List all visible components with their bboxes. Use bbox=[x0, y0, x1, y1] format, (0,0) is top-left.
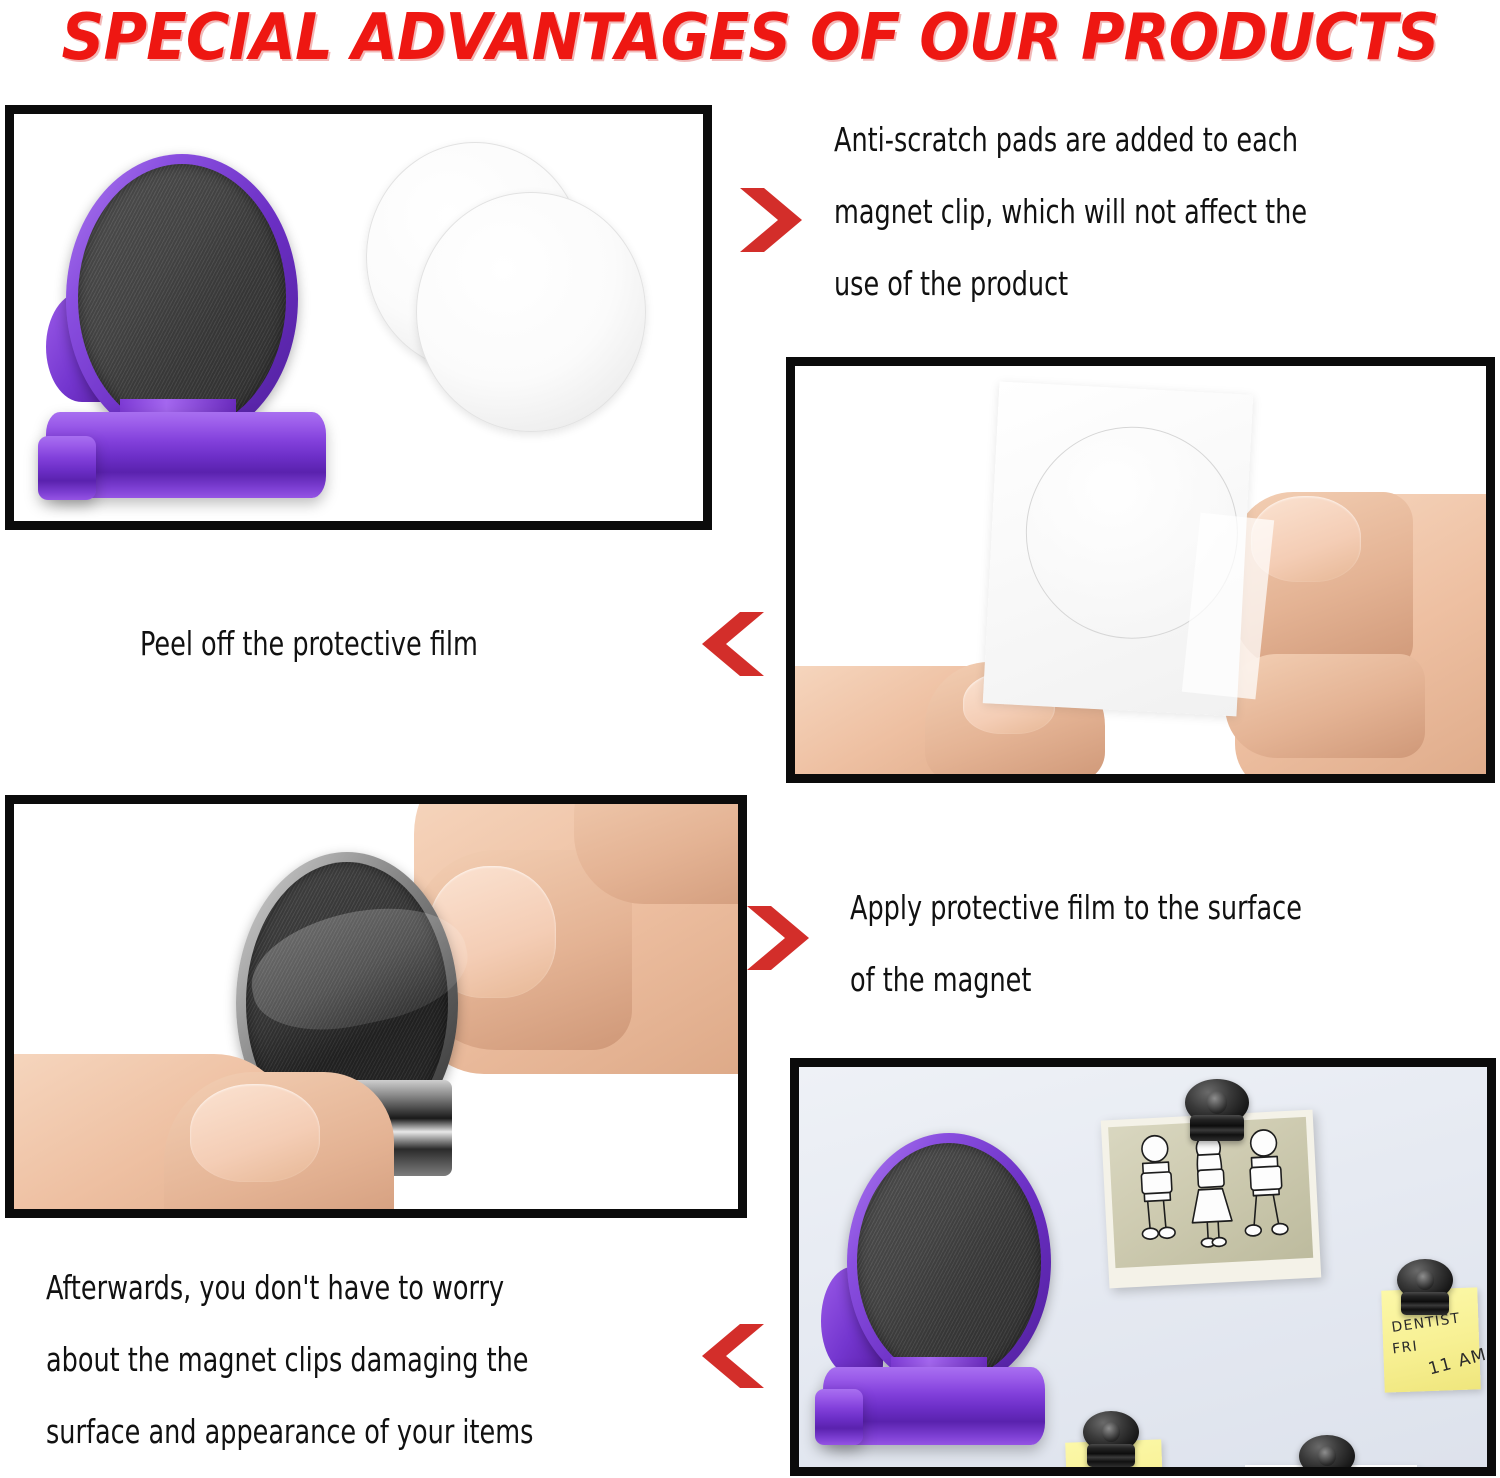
caption-step-4-line-3: surface and appearance of your items bbox=[46, 1396, 734, 1468]
caption-step-3: Apply protective film to the surface of … bbox=[850, 872, 1486, 1016]
panel-4-image: Back to school ! ! ! DENTIST FRI 11 AM bbox=[799, 1067, 1487, 1467]
sticky-dentist-line-3: 11 AM bbox=[1426, 1345, 1487, 1380]
panel-2-image bbox=[795, 366, 1486, 774]
black-clip-school-note bbox=[1083, 1411, 1139, 1467]
clip-hub bbox=[1207, 1091, 1227, 1114]
panel-applying-film bbox=[5, 795, 747, 1218]
panel-3-image bbox=[14, 804, 738, 1209]
clip-hub bbox=[1102, 1422, 1120, 1442]
caption-step-4-line-2: about the magnet clips damaging the bbox=[46, 1324, 734, 1396]
caption-step-2-line-1: Peel off the protective film bbox=[140, 608, 656, 680]
caption-step-1: Anti-scratch pads are added to each magn… bbox=[834, 104, 1488, 320]
panel-fridge-scene: Back to school ! ! ! DENTIST FRI 11 AM bbox=[790, 1058, 1496, 1476]
magnet-disc bbox=[78, 164, 286, 432]
black-clip-photo bbox=[1185, 1079, 1249, 1155]
page-title: SPECIAL ADVANTAGES OF OUR PRODUCTS bbox=[53, 2, 1448, 74]
clip-hub bbox=[1416, 1270, 1434, 1290]
lower-thumb-nail bbox=[190, 1084, 320, 1182]
infographic-canvas: SPECIAL ADVANTAGES OF OUR PRODUCTS Anti-… bbox=[0, 0, 1500, 1478]
caption-step-3-line-2: of the magnet bbox=[850, 944, 1486, 1016]
clip-lever-end bbox=[38, 436, 96, 500]
black-clip-shopping-note bbox=[1299, 1435, 1355, 1467]
clip-bar bbox=[1401, 1292, 1448, 1315]
caption-step-3-line-1: Apply protective film to the surface bbox=[850, 872, 1486, 944]
caption-step-4-line-1: Afterwards, you don't have to worry bbox=[46, 1252, 734, 1324]
anti-scratch-pad-front bbox=[416, 192, 646, 432]
caption-step-1-line-2: magnet clip, which will not affect the bbox=[834, 176, 1488, 248]
panel-peeling-film bbox=[786, 357, 1495, 783]
clip-bar bbox=[1190, 1115, 1244, 1141]
caption-step-1-line-3: use of the product bbox=[834, 248, 1488, 320]
black-clip-dentist-note bbox=[1397, 1259, 1453, 1327]
clip-hub bbox=[1318, 1446, 1336, 1466]
panel-magnet-clip-with-pads bbox=[5, 105, 712, 530]
caption-step-4: Afterwards, you don't have to worry abou… bbox=[46, 1252, 734, 1468]
chevron-right-icon bbox=[745, 900, 811, 976]
hero-clip-lever-end bbox=[815, 1389, 863, 1445]
caption-step-1-line-1: Anti-scratch pads are added to each bbox=[834, 104, 1488, 176]
hero-magnet-disc bbox=[857, 1143, 1041, 1381]
chevron-left-icon bbox=[700, 606, 766, 682]
clip-bar bbox=[1087, 1444, 1134, 1467]
panel-1-image bbox=[14, 114, 703, 521]
chevron-right-icon bbox=[738, 182, 804, 258]
caption-step-2: Peel off the protective film bbox=[140, 608, 656, 680]
sticky-dentist-line-2: FRI bbox=[1391, 1338, 1419, 1357]
